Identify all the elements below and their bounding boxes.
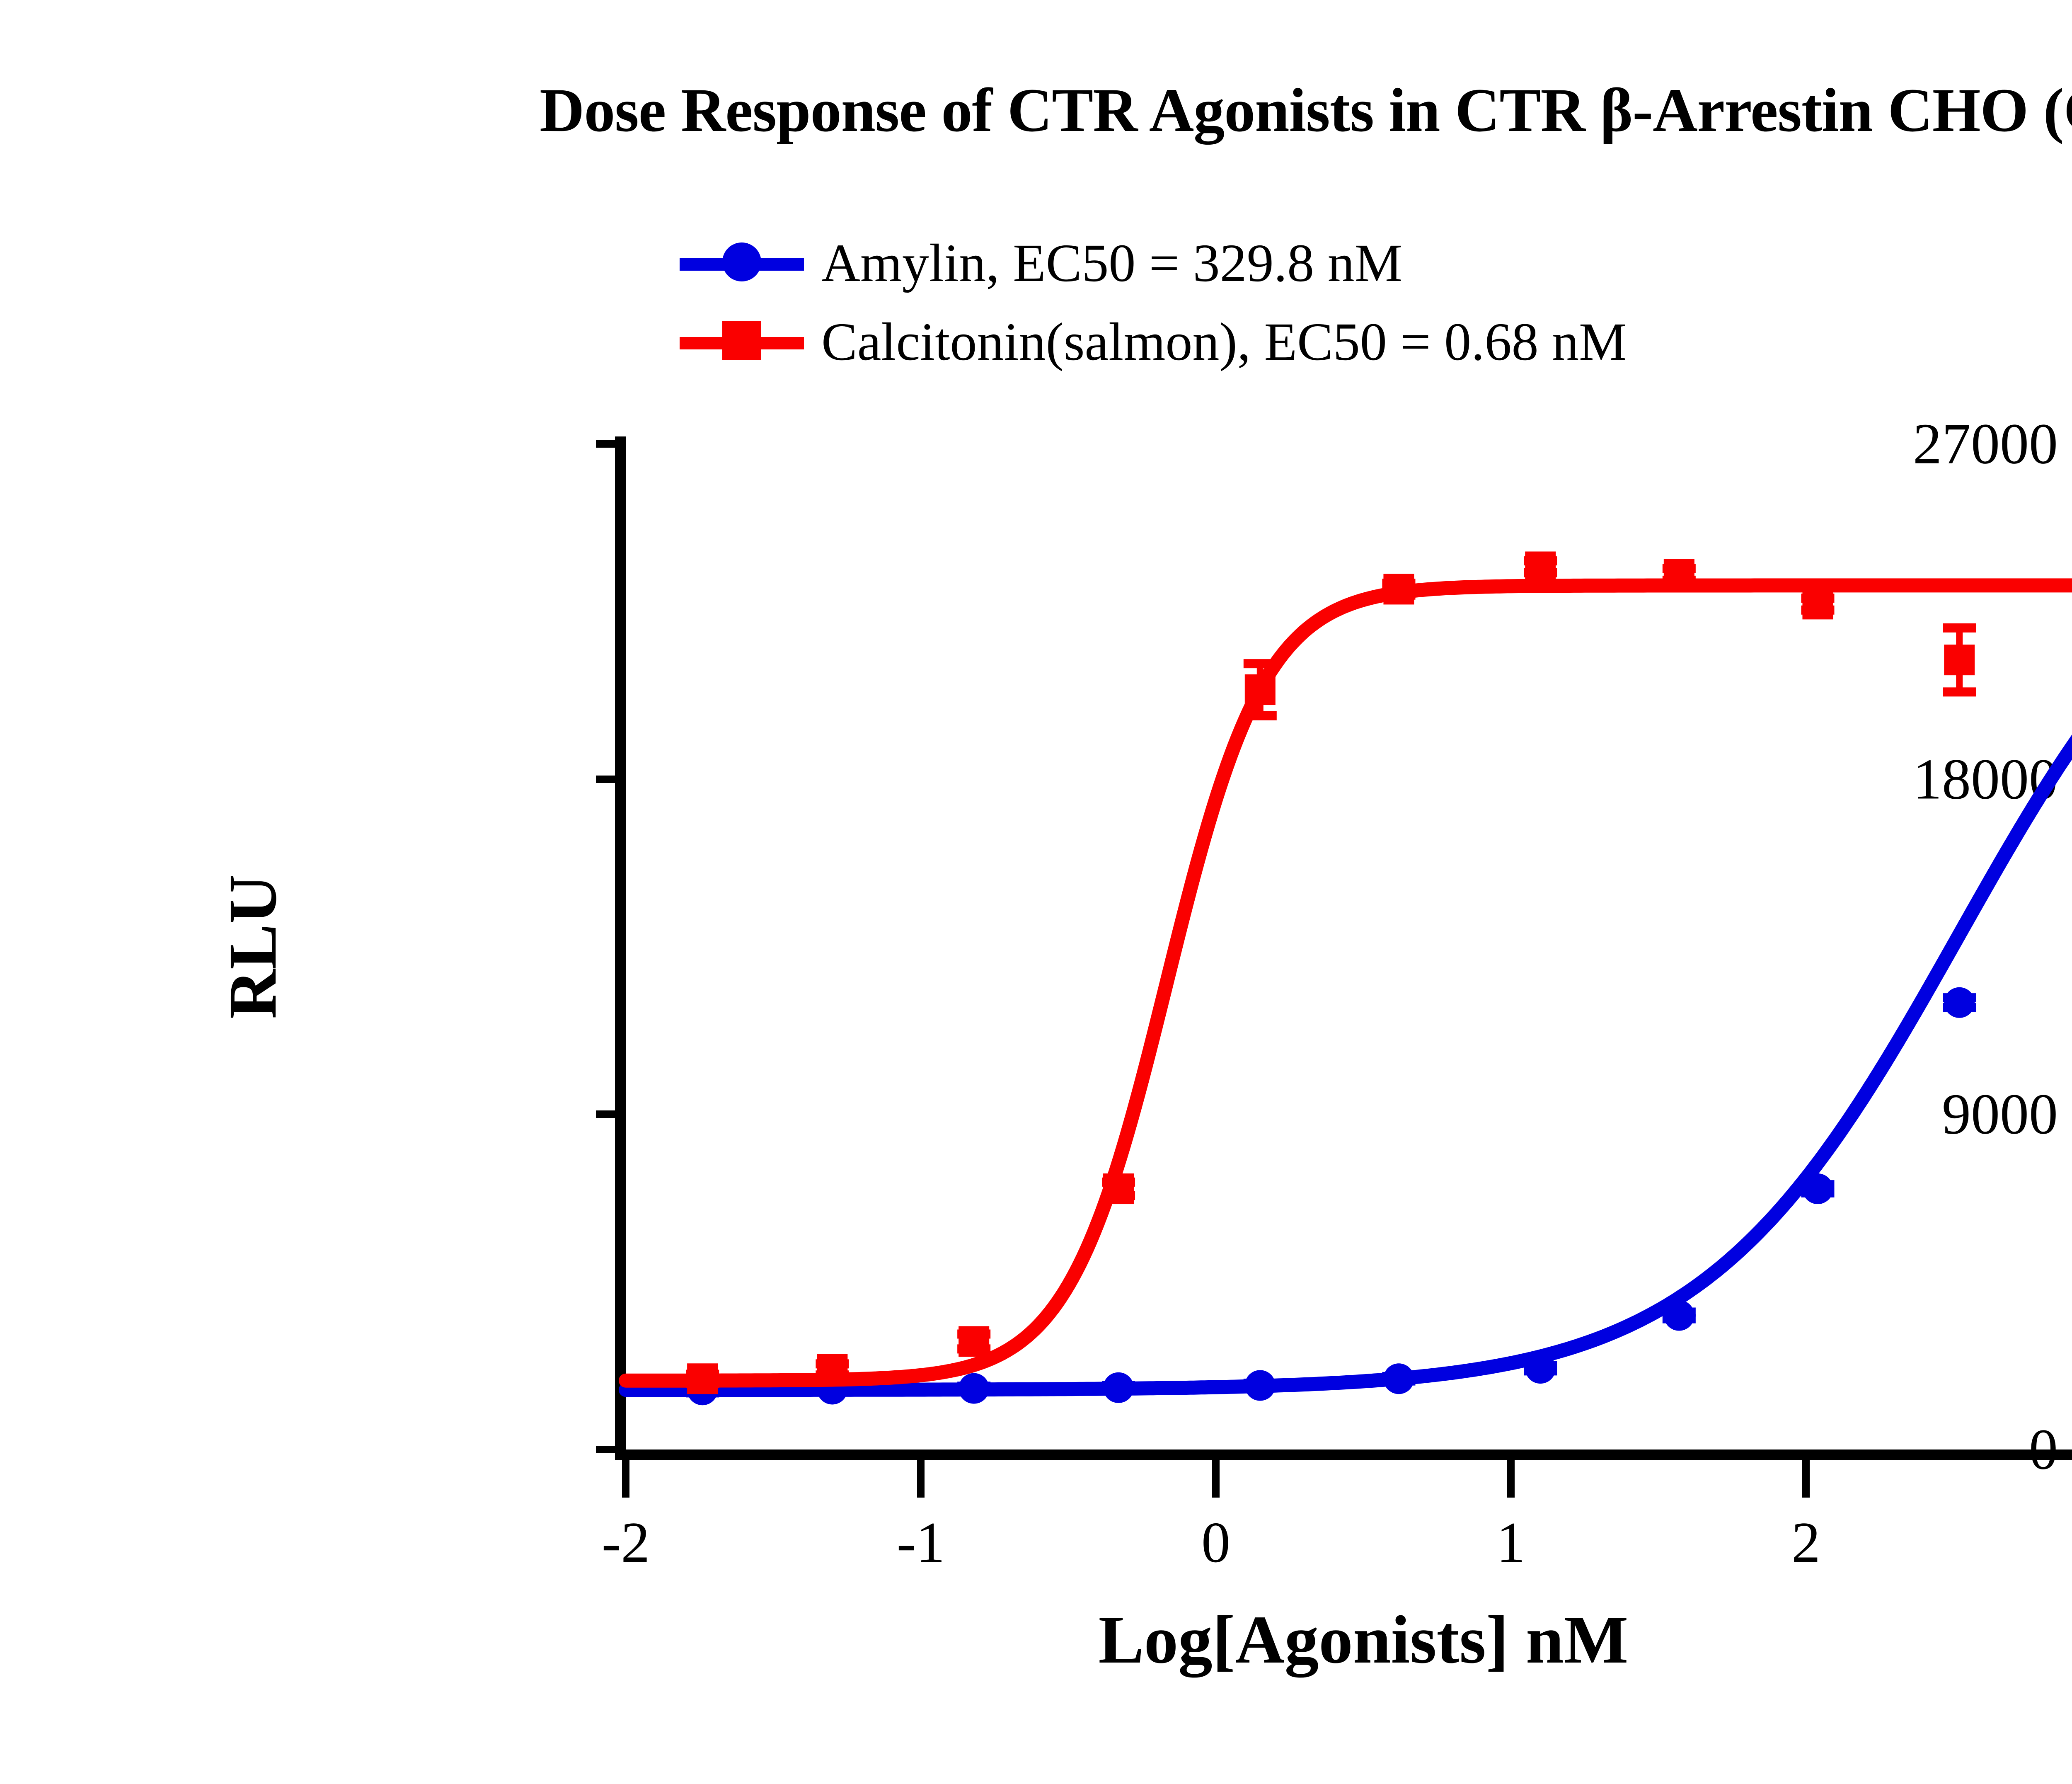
series-amylin [626,706,2072,1405]
series-canvas [626,444,2072,1449]
x-tick-label: 2 [1791,1509,1820,1576]
chart-title: Dose Response of CTR Agonists in CTR β-A… [0,75,2072,146]
circle-data-marker[interactable] [959,1373,989,1404]
square-data-marker[interactable] [817,1354,847,1385]
square-data-marker[interactable] [959,1326,989,1357]
series-calcitonin [626,552,2072,1394]
circle-data-marker[interactable] [1383,1363,1414,1394]
legend-key-calcitonin [680,321,804,363]
y-axis-spine [615,436,626,1457]
square-data-marker[interactable] [687,1363,718,1394]
x-axis-label: Log[Agonists] nM [1099,1600,1629,1679]
square-data-marker[interactable] [1664,559,1694,589]
y-tick [596,776,626,783]
legend-label-amylin: Amylin, EC50 = 329.8 nM [821,236,1402,290]
square-data-marker[interactable] [1944,645,1975,675]
x-tick [1212,1460,1220,1498]
legend-label-calcitonin: Calcitonin(salmon), EC50 = 0.68 nM [821,315,1627,369]
x-tick-label: 0 [1201,1509,1230,1576]
legend-item-calcitonin[interactable]: Calcitonin(salmon), EC50 = 0.68 nM [680,303,2072,381]
circle-data-marker[interactable] [1103,1372,1134,1403]
circle-data-marker[interactable] [1525,1353,1556,1384]
fit-curve [626,585,2072,1380]
x-tick-label: -2 [602,1509,650,1576]
square-marker-icon [722,321,761,360]
x-tick-label: -1 [897,1509,945,1576]
circle-data-marker[interactable] [1944,987,1975,1018]
x-tick [622,1460,629,1498]
x-tick [1802,1460,1810,1498]
square-data-marker[interactable] [1245,674,1276,705]
x-tick [917,1460,925,1498]
fit-curve [626,706,2072,1390]
chart-root: Dose Response of CTR Agonists in CTR β-A… [0,0,2072,1784]
legend-key-amylin [680,242,804,284]
square-data-marker[interactable] [1525,552,1556,582]
chart-legend: Amylin, EC50 = 329.8 nM Calcitonin(salmo… [680,224,2072,381]
legend-item-amylin[interactable]: Amylin, EC50 = 329.8 nM [680,224,2072,303]
y-tick [596,440,626,448]
square-data-marker[interactable] [1802,589,1833,619]
x-tick [1507,1460,1515,1498]
x-tick-label: 1 [1496,1509,1525,1576]
y-axis-label: RLU [213,875,292,1019]
circle-data-marker[interactable] [1664,1300,1694,1331]
circle-marker-icon [722,242,761,281]
circle-data-marker[interactable] [1802,1173,1833,1204]
x-axis-spine [615,1449,2072,1460]
y-tick [596,1446,626,1453]
square-data-marker[interactable] [1383,574,1414,604]
y-tick [596,1110,626,1118]
square-data-marker[interactable] [1103,1173,1134,1204]
circle-data-marker[interactable] [1245,1370,1276,1401]
plot-area: 090001800027000 -2-10123 RLU Log[Agonist… [626,444,2072,1449]
